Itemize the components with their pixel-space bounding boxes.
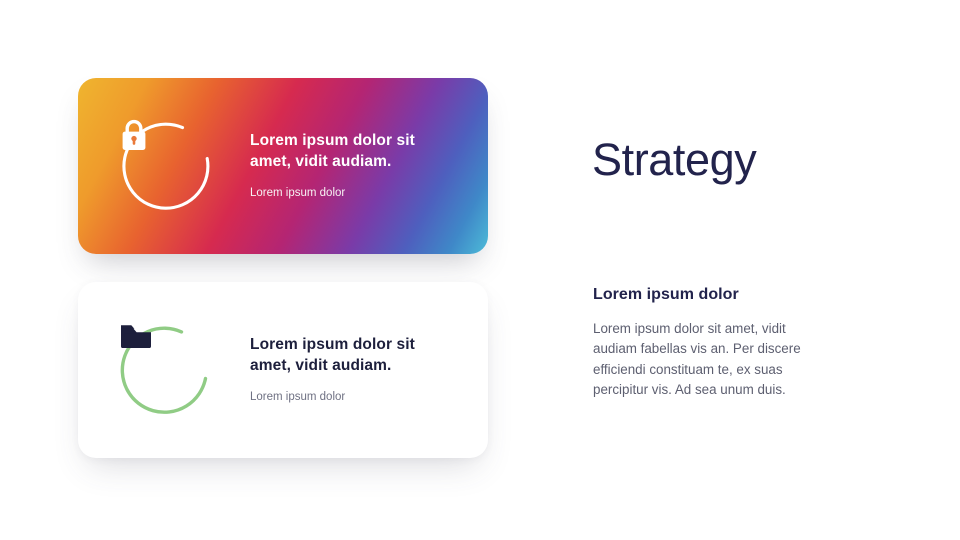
- folder-icon: [119, 322, 215, 418]
- lock-icon: [119, 118, 215, 214]
- card-title: Lorem ipsum dolor sit amet, vidit audiam…: [250, 131, 435, 172]
- card-subtitle: Lorem ipsum dolor: [250, 186, 488, 201]
- card-gradient[interactable]: Lorem ipsum dolor sit amet, vidit audiam…: [78, 78, 488, 254]
- slide-canvas: Lorem ipsum dolor sit amet, vidit audiam…: [0, 0, 960, 540]
- card-list: Lorem ipsum dolor sit amet, vidit audiam…: [78, 78, 488, 458]
- card-plain[interactable]: Lorem ipsum dolor sit amet, vidit audiam…: [78, 282, 488, 458]
- card-plain-text: Lorem ipsum dolor sit amet, vidit audiam…: [250, 335, 488, 405]
- card-subtitle: Lorem ipsum dolor: [250, 390, 488, 405]
- card-plain-content: Lorem ipsum dolor sit amet, vidit audiam…: [78, 282, 488, 458]
- card-title: Lorem ipsum dolor sit amet, vidit audiam…: [250, 335, 435, 376]
- folder-icon-badge: [119, 322, 215, 418]
- section-subheading: Lorem ipsum dolor: [593, 286, 739, 304]
- lock-icon-badge: [119, 118, 215, 214]
- right-column: Strategy Lorem ipsum dolor Lorem ipsum d…: [592, 0, 892, 540]
- card-gradient-content: Lorem ipsum dolor sit amet, vidit audiam…: [78, 78, 488, 254]
- card-gradient-text: Lorem ipsum dolor sit amet, vidit audiam…: [250, 131, 488, 201]
- body-paragraph: Lorem ipsum dolor sit amet, vidit audiam…: [593, 319, 833, 401]
- page-title: Strategy: [592, 136, 756, 183]
